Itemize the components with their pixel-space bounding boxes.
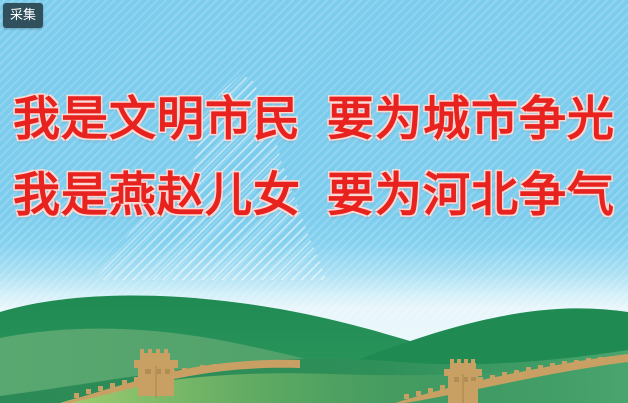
- landscape-illustration: [0, 270, 628, 403]
- capture-button[interactable]: 采集: [3, 3, 43, 28]
- mountain-hatch-watermark: [95, 30, 365, 280]
- poster-image: 我是文明市民要为城市争光 我是燕赵儿女要为河北争气 采集: [0, 0, 628, 403]
